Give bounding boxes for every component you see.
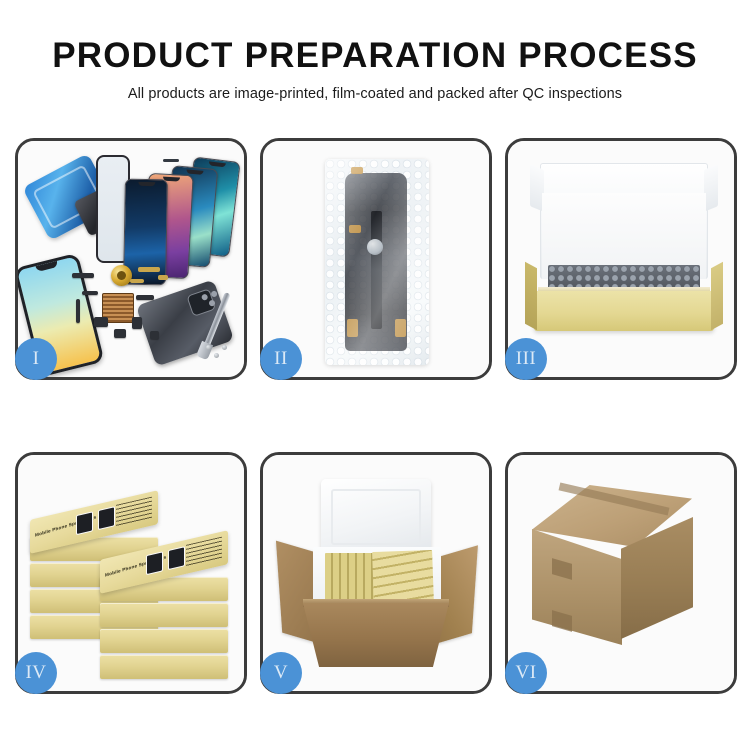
header: PRODUCT PREPARATION PROCESS All products… [0,38,750,102]
step-4-image: Mobile Phone Spare Parts Mobile Phone Sp… [18,455,244,691]
page-title: PRODUCT PREPARATION PROCESS [0,38,750,75]
step-6-image [508,455,734,691]
box-window-4 [168,546,185,570]
step-badge-3: III [505,338,547,380]
flex-cable-2 [130,279,144,283]
step-3-image [508,141,734,377]
box-spec-lines-second [186,537,222,567]
flex-chip-7 [136,295,154,300]
step-badge-5: V [260,652,302,694]
process-step-1[interactable]: I [15,138,247,380]
flex-chip-4 [132,317,142,329]
step-2-image [263,141,489,377]
screw-1 [214,353,219,358]
yellow-box-body [534,291,714,331]
process-step-4[interactable]: Mobile Phone Spare Parts Mobile Phone Sp… [15,452,247,694]
phone-back-housing [136,279,234,366]
screw-2 [222,345,227,350]
product-preparation-infographic: PRODUCT PREPARATION PROCESS All products… [0,0,750,750]
carton-left-face [532,529,622,645]
box-stack: Mobile Phone Spare Parts Mobile Phone Sp… [26,477,238,673]
flex-chip-2 [94,317,108,327]
step-badge-6: VI [505,652,547,694]
stacked-box-r2 [100,603,228,627]
stacked-box-r4 [100,655,228,679]
flex-chip-3 [114,329,126,338]
foam-lid [321,479,431,555]
box-window-3 [146,551,163,575]
screw-3 [206,345,211,350]
process-step-6[interactable]: VI [505,452,737,694]
packed-boxes-row-2 [372,550,434,604]
step-badge-1: I [15,338,57,380]
step-1-image [18,141,244,377]
process-step-grid: I II [15,138,737,694]
step-5-image [263,455,489,691]
step-badge-4: IV [15,652,57,694]
flex-cable-1 [138,267,160,272]
gold-component [111,265,132,286]
box-window-1 [76,511,93,535]
plastic-gloss [325,159,429,365]
flex-chip-1 [72,273,94,278]
flex-chip-8 [150,331,159,339]
box-spec-lines-top [116,497,152,527]
stacked-box-r3 [100,629,228,653]
process-step-2[interactable]: II [260,138,492,380]
page-subtitle: All products are image-printed, film-coa… [0,86,750,102]
step-badge-2: II [260,338,302,380]
process-step-3[interactable]: III [505,138,737,380]
carton-body [303,603,449,667]
bubble-wrap-bag [325,159,429,365]
box-window-2 [98,506,115,530]
process-step-5[interactable]: V [260,452,492,694]
flex-cable-3 [158,275,168,280]
flex-chip-6 [76,299,80,323]
phone-lineup [96,155,244,280]
flex-chip-5 [82,291,98,295]
